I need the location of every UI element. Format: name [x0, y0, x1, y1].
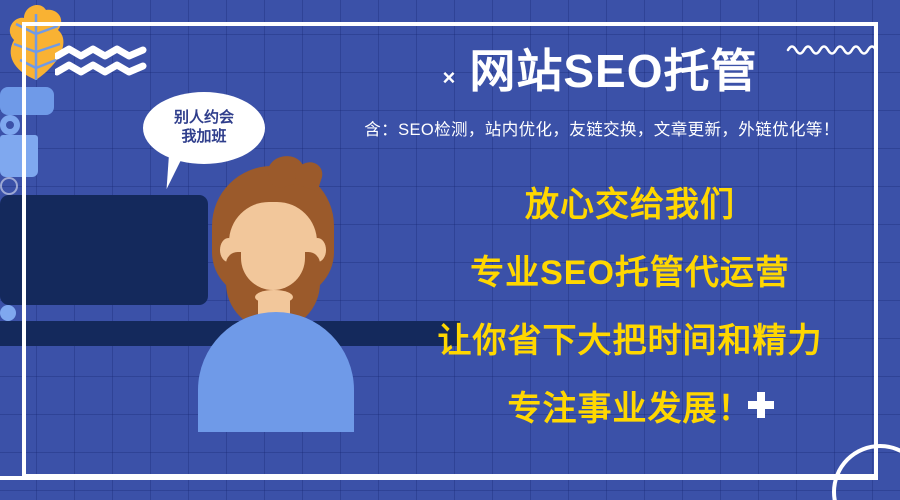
laptop [0, 195, 208, 305]
plant-pot [0, 87, 54, 115]
coffee-mug [0, 135, 38, 177]
slogan-line-1: 放心交给我们 [400, 188, 860, 222]
mug-handle [0, 115, 20, 135]
mug-ring-decoration [0, 177, 18, 195]
slogan-line-2: 专业SEO托管代运营 [400, 256, 860, 290]
zigzag-wave-icon [55, 45, 147, 79]
laptop-logo-icon [0, 305, 16, 321]
slogan-line-4: 专注事业发展！ [400, 392, 860, 426]
title-bullet-icon: × [442, 53, 455, 89]
seo-promo-banner: × 网站SEO托管 含：SEO检测，站内优化，友链交换，文章更新，外链优化等！ … [0, 0, 900, 500]
speech-bubble-line-1: 别人约会 [174, 109, 234, 128]
corner-horizontal-line [0, 476, 878, 480]
corner-circle-icon [832, 444, 900, 500]
title-text: 网站SEO托管 [469, 46, 757, 97]
corner-vertical-line [874, 410, 878, 480]
speech-bubble-line-2: 我加班 [181, 128, 226, 147]
page-title: × 网站SEO托管 [340, 46, 860, 97]
slogan-list: 放心交给我们 专业SEO托管代运营 让你省下大把时间和精力 专注事业发展！ [400, 188, 860, 426]
subtitle-text: 含：SEO检测，站内优化，友链交换，文章更新，外链优化等！ [340, 116, 864, 140]
speech-bubble: 别人约会 我加班 [143, 92, 265, 164]
slogan-line-3: 让你省下大把时间和精力 [400, 324, 860, 358]
